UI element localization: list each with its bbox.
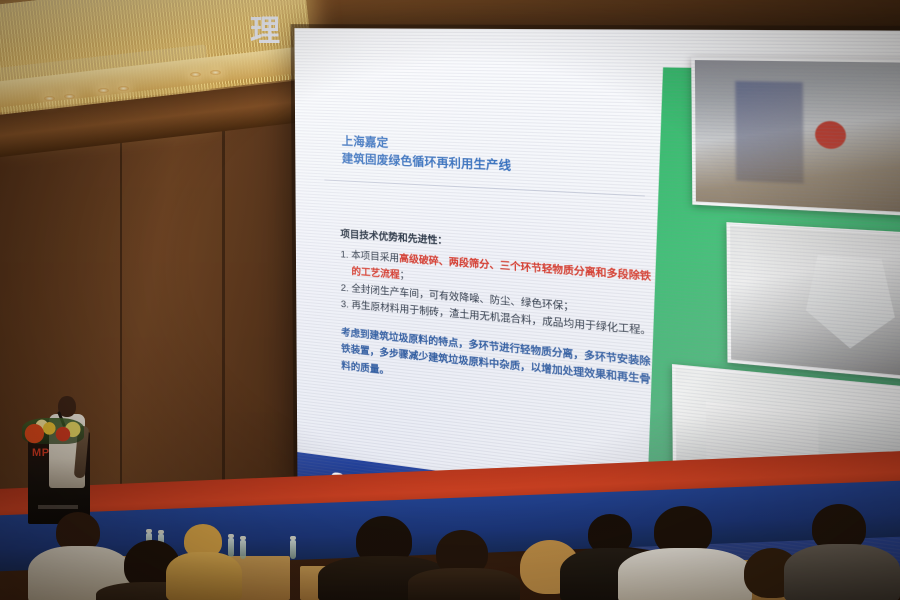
audience-body <box>166 552 242 600</box>
downlight-icon <box>118 86 129 91</box>
slide-title: 上海嘉定 建筑固废绿色循环再利用生产线 <box>342 134 643 182</box>
wall-seam <box>120 130 122 510</box>
list-item-text: 本项目采用 <box>351 249 399 264</box>
water-bottle <box>240 540 246 559</box>
downlight-icon <box>98 88 109 93</box>
audience-body <box>408 568 520 600</box>
downlight-icon <box>64 94 75 99</box>
list-item-suffix: ； <box>400 270 410 282</box>
wall-seam <box>222 120 225 520</box>
screenshot-root: 上海嘉定 建筑固废绿色循环再利用生产线 项目技术优势和先进性： 1. 本项目采用… <box>0 0 900 600</box>
flower-arrangement <box>22 418 84 444</box>
bottle-cap <box>146 529 152 533</box>
downlight-icon <box>44 96 55 101</box>
bottle-cap <box>228 534 234 538</box>
presentation-screen: 上海嘉定 建筑固废绿色循环再利用生产线 项目技术优势和先进性： 1. 本项目采用… <box>296 28 900 498</box>
downlight-icon <box>190 72 201 77</box>
list-item-number: 2. <box>341 282 349 294</box>
slide-body: 项目技术优势和先进性： 1. 本项目采用高级破碎、两段筛分、三个环节轻物质分离和… <box>340 227 653 410</box>
water-bottle <box>290 540 296 559</box>
downlight-icon <box>210 70 221 75</box>
bottle-cap <box>158 530 164 534</box>
list-item-number: 1. <box>340 249 348 261</box>
photo-dust-collector <box>726 222 900 388</box>
banner-text: 理 <box>250 6 292 50</box>
list-item-number: 3. <box>341 299 349 311</box>
bottle-cap <box>240 536 246 540</box>
bottle-cap <box>290 536 296 540</box>
water-bottle <box>228 538 234 557</box>
audience-body <box>618 548 752 600</box>
photo-crusher <box>691 57 900 219</box>
audience-body <box>784 544 900 600</box>
podium-url <box>38 505 78 509</box>
title-divider <box>324 179 644 196</box>
